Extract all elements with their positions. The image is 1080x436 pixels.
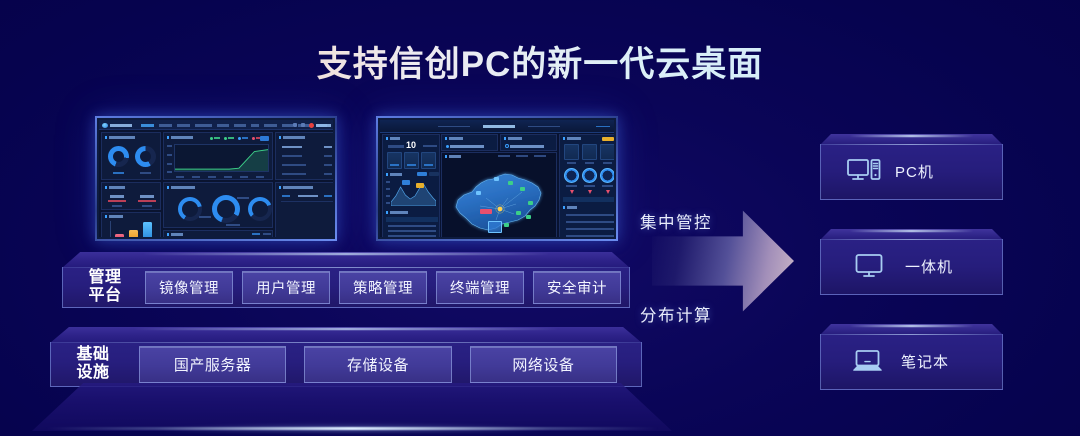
panel-title (283, 186, 313, 189)
list-item (566, 228, 614, 230)
map-top-right-metric (500, 134, 557, 151)
panel-alarm-table (163, 230, 273, 237)
stat-value (140, 195, 154, 198)
x-axis-tick (224, 176, 232, 178)
card-top-highlight (849, 135, 973, 137)
dashboard-map-screen: 10 (380, 120, 614, 237)
resource-donut-hole (252, 201, 268, 217)
panel-title (109, 186, 125, 189)
bar-chart-axis (110, 221, 111, 237)
infographic-canvas: 支持信创PC的新一代云桌面 (0, 0, 1080, 436)
map-header-title (483, 125, 515, 128)
console-logo-text (110, 124, 132, 127)
console-nav-item (177, 124, 190, 127)
map-filter-tab (516, 155, 528, 157)
card-top-highlight (849, 230, 973, 232)
panel-marker (105, 136, 107, 139)
list-row-label (282, 155, 302, 157)
resource-donut-hole (182, 201, 198, 217)
line-chart-svg (175, 145, 268, 171)
console-logo-icon (102, 123, 108, 128)
shelf-body: 基础 设施 国产服务器 存储设备 网络设备 (50, 342, 642, 387)
device-card-label: PC机 (895, 161, 934, 182)
line-chart-plot (174, 144, 269, 172)
monitor-icon (855, 253, 883, 280)
metric-donut-icon (505, 144, 509, 148)
card-body: 一体机 (820, 239, 1003, 295)
area-chart-svg (391, 179, 436, 206)
x-axis-tick (240, 176, 248, 178)
map-marker-alert (480, 209, 492, 214)
panel-line-chart (163, 132, 273, 180)
resource-donut-hole (217, 200, 235, 218)
panel-title (449, 155, 461, 158)
bar-series-2 (129, 230, 138, 237)
panel-title (109, 215, 123, 218)
map-top-left-metric (441, 134, 498, 151)
device-card-label: 笔记本 (901, 351, 949, 372)
page-title: 支持信创PC的新一代云桌面 (0, 36, 1080, 87)
area-chart-tab[interactable] (429, 172, 439, 176)
device-stat-label (567, 162, 576, 164)
gauge-donut-hole (140, 151, 151, 162)
panel-warning-badge (602, 137, 614, 141)
panel-bar-chart (101, 212, 161, 237)
panel-title (109, 136, 135, 139)
gauge-donut-hole (113, 151, 124, 162)
line-legend-dot (210, 137, 213, 140)
panel-title (283, 136, 305, 139)
device-card-all-in-one[interactable]: 一体机 (820, 229, 1003, 295)
area-chart-tooltip (416, 183, 424, 188)
device-stat-box (600, 144, 614, 160)
trend-down-arrow-icon (570, 190, 574, 194)
list-row-action (324, 195, 332, 197)
map-marker-node (476, 191, 481, 195)
stat-divider (108, 200, 126, 202)
panel-marker (563, 206, 565, 209)
shelf-top-highlight (133, 328, 559, 330)
laptop-icon (853, 349, 883, 375)
icon-stat-value (424, 164, 433, 166)
panel-resource-donuts (163, 182, 273, 228)
icon-stat-value (390, 164, 399, 166)
gauge-legend (140, 172, 151, 174)
panel-marker (167, 136, 169, 139)
module-domestic-server[interactable]: 国产服务器 (139, 346, 286, 383)
usage-gauge-label (584, 185, 595, 187)
panel-stats (101, 182, 161, 210)
panel-title (449, 137, 463, 140)
list-item (566, 235, 614, 237)
console-nav-item (159, 124, 172, 127)
bar-chart-plot (112, 221, 158, 237)
usage-gauge (582, 168, 597, 183)
stat-divider (138, 200, 156, 202)
line-legend-dot (252, 137, 255, 140)
module-security-audit[interactable]: 安全审计 (533, 271, 621, 304)
panel-title (171, 233, 183, 236)
card-body: PC机 (820, 144, 1003, 200)
shelf-body: 管理 平台 镜像管理 用户管理 策略管理 终端管理 安全审计 (62, 267, 630, 308)
infrastructure-label-line2: 设施 (57, 364, 129, 382)
base-platform-edge-light (45, 427, 659, 430)
map-header-action (596, 126, 610, 128)
list-section-header (563, 197, 614, 202)
list-row-label (282, 164, 306, 166)
icon-stat-card (387, 152, 402, 169)
stat-value (110, 195, 124, 198)
infrastructure-modules-row: 国产服务器 存储设备 网络设备 (129, 346, 641, 383)
metric-text (510, 145, 544, 148)
console-nav-item (141, 124, 154, 127)
icon-stat-card (404, 152, 419, 169)
management-modules-row: 镜像管理 用户管理 策略管理 终端管理 安全审计 (141, 271, 629, 304)
stat-caption (112, 205, 122, 207)
panel-top-list (275, 132, 333, 180)
table-header-row (386, 217, 438, 222)
y-axis-tick (167, 163, 172, 165)
usage-gauge (600, 168, 614, 183)
console-nav-item (234, 124, 246, 127)
table-filter-tab (252, 233, 260, 235)
list-row-label (298, 195, 318, 197)
arrow-label-centralized-control: 集中管控 (640, 209, 712, 233)
counter-suffix (423, 145, 437, 147)
module-user-management[interactable]: 用户管理 (242, 271, 330, 304)
console-nav-item (282, 124, 293, 127)
map-filter-tab (498, 155, 510, 157)
module-network-device[interactable]: 网络设备 (470, 346, 617, 383)
list-row-value (324, 155, 332, 157)
y-axis-tick (386, 195, 390, 197)
y-axis-tick (167, 154, 172, 156)
device-card-label: 一体机 (905, 256, 953, 277)
base-platform (32, 383, 672, 431)
gauge-legend (113, 172, 124, 174)
line-legend-label (228, 137, 234, 139)
stat-caption (142, 205, 152, 207)
module-terminal-management[interactable]: 终端管理 (436, 271, 524, 304)
management-platform-label-line1: 管理 (69, 269, 141, 287)
panel-title (390, 173, 402, 176)
map-left-panel: 10 (382, 134, 440, 237)
usage-gauge-label (566, 185, 577, 187)
line-chart-toggle[interactable] (260, 136, 269, 141)
map-marker-node (494, 177, 499, 181)
panel-title (390, 137, 400, 140)
icon-stat-value (407, 164, 416, 166)
donut-callout (226, 224, 240, 226)
panel-title (390, 211, 408, 214)
y-axis-tick (386, 202, 390, 204)
management-platform-label-line2: 平台 (69, 287, 141, 305)
area-chart-tab[interactable] (417, 172, 427, 176)
console-notification-badge (309, 123, 314, 128)
bar-series-1 (115, 234, 124, 237)
map-marker-tooltip (488, 221, 502, 233)
infrastructure-label: 基础 设施 (57, 346, 129, 382)
y-axis-tick (167, 171, 172, 173)
list-row-value (324, 164, 332, 166)
y-axis-tick (386, 181, 390, 183)
panel-secondary-list (275, 182, 333, 237)
area-chart-plot (391, 179, 436, 206)
list-divider (281, 201, 333, 202)
map-filter-tab (534, 155, 546, 157)
panel-marker (105, 215, 107, 218)
panel-marker (445, 137, 447, 140)
trend-down-arrow-icon (606, 190, 610, 194)
map-marker-node (526, 215, 531, 219)
list-row-label (282, 173, 306, 175)
panel-marker (386, 211, 388, 214)
list-row-value (324, 173, 332, 175)
donut-callout (237, 197, 249, 199)
y-axis-tick (386, 188, 390, 190)
panel-marker (386, 173, 388, 176)
panel-marker (279, 136, 281, 139)
panel-marker (386, 137, 388, 140)
panel-title (567, 206, 577, 209)
x-axis-tick (208, 176, 216, 178)
table-row (388, 235, 436, 237)
counter-value: 10 (406, 141, 416, 150)
panel-marker (563, 137, 565, 140)
trend-down-arrow-icon (588, 190, 592, 194)
device-stat-label (603, 162, 612, 164)
area-chart-tooltip (402, 180, 410, 185)
device-stat-box (564, 144, 579, 160)
panel-title (508, 137, 522, 140)
panel-title (171, 186, 195, 189)
console-settings-icon (301, 123, 305, 127)
map-marker-node (520, 187, 525, 191)
x-axis-tick (176, 176, 184, 178)
console-help-icon (293, 123, 297, 127)
map-marker-node (508, 181, 513, 185)
infrastructure-shelf: 基础 设施 国产服务器 存储设备 网络设备 (50, 327, 642, 387)
device-stat-box (582, 144, 597, 160)
panel-gauges (101, 132, 161, 180)
table-row (388, 225, 436, 227)
panel-title (171, 136, 193, 139)
device-card-pc[interactable]: PC机 (820, 134, 1003, 200)
line-legend-label (214, 137, 220, 139)
console-nav-item (251, 124, 259, 127)
map-marker-node (528, 201, 533, 205)
donut-callout (199, 216, 211, 218)
x-axis-tick (192, 176, 200, 178)
panel-title (567, 137, 581, 140)
bar-series-3 (143, 222, 152, 237)
map-header-left-text (438, 126, 470, 128)
dashboard-console-screen (99, 120, 333, 237)
table-row (388, 230, 436, 232)
console-nav-item (217, 124, 229, 127)
card-top-highlight (849, 325, 973, 327)
counter-caption (388, 145, 404, 148)
panel-marker (504, 137, 506, 140)
list-item (566, 214, 614, 216)
y-axis-tick (167, 145, 172, 147)
console-nav-item (195, 124, 212, 127)
card-body: 笔记本 (820, 334, 1003, 390)
map-marker-node (504, 223, 509, 227)
map-header-right-text (528, 126, 560, 128)
dashboard-screenshot-console (95, 116, 337, 241)
arrow-label-distributed-computing: 分布计算 (640, 302, 712, 326)
list-row-label (282, 195, 290, 197)
panel-marker (445, 155, 447, 158)
list-item (566, 221, 614, 223)
panel-marker (279, 186, 281, 189)
list-row-value (324, 146, 332, 148)
metric-text (450, 145, 484, 148)
management-platform-label: 管理 平台 (69, 269, 141, 305)
map-canvas-panel (441, 152, 557, 237)
management-platform-shelf: 管理 平台 镜像管理 用户管理 策略管理 终端管理 安全审计 (62, 252, 630, 308)
console-nav-item (264, 124, 277, 127)
module-image-management[interactable]: 镜像管理 (145, 271, 233, 304)
panel-marker (105, 186, 107, 189)
icon-stat-card (421, 152, 436, 169)
usage-gauge-label (602, 185, 613, 187)
metric-icon (446, 145, 449, 148)
module-storage-device[interactable]: 存储设备 (304, 346, 451, 383)
console-user-name (316, 124, 331, 127)
dashboard-screenshot-map: 10 (376, 116, 618, 241)
table-filter-tab (263, 233, 271, 235)
line-legend-dot (238, 137, 241, 140)
usage-gauge (564, 168, 579, 183)
line-legend-label (242, 137, 248, 139)
device-card-laptop[interactable]: 笔记本 (820, 324, 1003, 390)
device-stat-label (585, 162, 594, 164)
infrastructure-label-line1: 基础 (57, 346, 129, 364)
desktop-tower-icon (847, 158, 881, 185)
x-axis-tick (256, 176, 264, 178)
panel-marker (167, 186, 169, 189)
map-right-panel (559, 134, 614, 237)
module-policy-management[interactable]: 策略管理 (339, 271, 427, 304)
list-row-label (282, 146, 302, 148)
map-marker-node (516, 211, 521, 215)
line-legend-dot (224, 137, 227, 140)
shelf-top-highlight (142, 253, 551, 255)
panel-marker (167, 233, 169, 236)
